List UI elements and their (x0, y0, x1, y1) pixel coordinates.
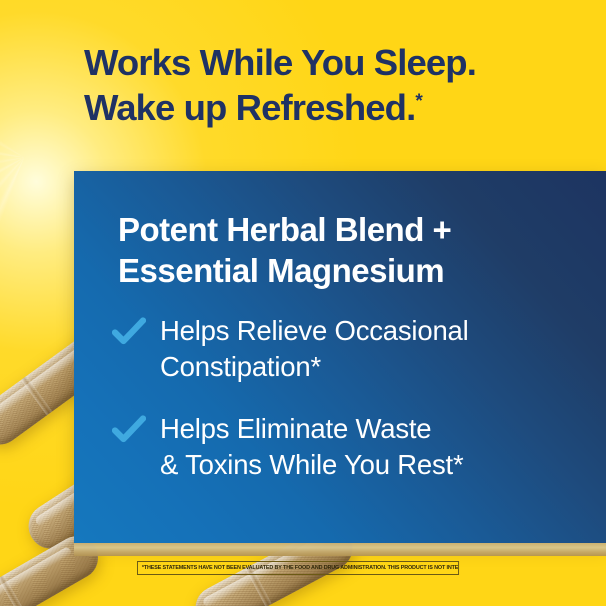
bullet-2-line-2: & Toxins While You Rest* (160, 449, 463, 480)
panel-heading-line-1: Potent Herbal Blend + (118, 209, 588, 250)
product-ad-image: Works While You Sleep. Wake up Refreshed… (0, 0, 606, 606)
headline: Works While You Sleep. Wake up Refreshed… (84, 40, 584, 130)
fda-disclaimer: *THESE STATEMENTS HAVE NOT BEEN EVALUATE… (137, 561, 459, 575)
headline-line-2-wrap: Wake up Refreshed.* (84, 85, 584, 130)
bullet-1-line-2: Constipation* (160, 351, 321, 382)
list-item: Helps Eliminate Waste & Toxins While You… (112, 411, 590, 483)
headline-line-1: Works While You Sleep. (84, 40, 584, 85)
panel-gold-band (74, 543, 606, 556)
bullet-2-line-1: Helps Eliminate Waste (160, 413, 431, 444)
list-item: Helps Relieve Occasional Constipation* (112, 313, 590, 385)
panel-heading: Potent Herbal Blend + Essential Magnesiu… (118, 209, 588, 291)
panel-heading-line-2: Essential Magnesium (118, 250, 588, 291)
check-icon (112, 315, 146, 349)
list-item-text: Helps Relieve Occasional Constipation* (160, 313, 469, 385)
benefit-list: Helps Relieve Occasional Constipation* H… (112, 313, 590, 509)
headline-asterisk: * (415, 91, 422, 112)
bullet-1-line-1: Helps Relieve Occasional (160, 315, 469, 346)
check-icon (112, 413, 146, 447)
list-item-text: Helps Eliminate Waste & Toxins While You… (160, 411, 463, 483)
headline-line-2: Wake up Refreshed. (84, 87, 415, 128)
feature-panel: Potent Herbal Blend + Essential Magnesiu… (74, 171, 606, 543)
